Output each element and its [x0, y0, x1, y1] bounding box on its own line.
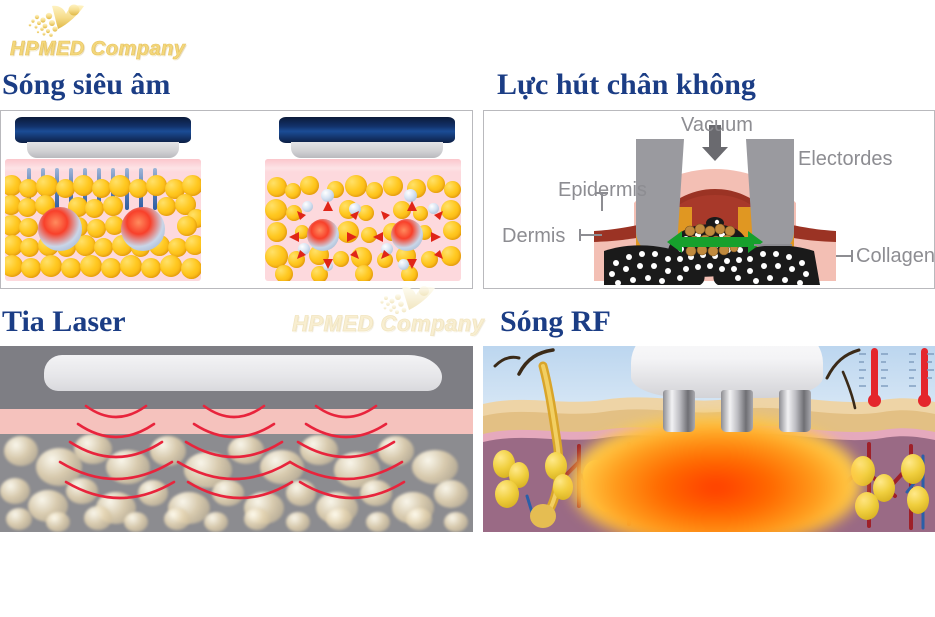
figure-rf-heating — [483, 346, 935, 532]
ultrasound-probe-base — [27, 142, 179, 158]
hpmed-watermark-text: HPMED Company — [292, 311, 484, 337]
laser-wave-arcs — [0, 346, 473, 532]
rf-electrode — [779, 390, 811, 432]
cavitation-bubble — [121, 207, 165, 251]
cavitation-bubble — [38, 207, 82, 251]
hpmed-wordmark: HPMED Company — [10, 38, 185, 61]
ultrasound-stage-before — [5, 115, 201, 285]
section-title-rf: Sóng RF — [500, 305, 611, 339]
ultrasound-probe-base — [291, 142, 443, 158]
rf-electrode — [663, 390, 695, 432]
ultrasound-probe-head — [15, 117, 191, 143]
label-collagen: Collagen — [856, 245, 935, 268]
hpmed-watermark: HPMED Company — [290, 285, 520, 341]
label-dermis: Dermis — [502, 225, 565, 248]
figure-vacuum-electrodes: Vacuum Electordes Epidermis Dermis Colla… — [483, 110, 935, 289]
tissue-block-before — [5, 159, 201, 281]
figure-ultrasound-cavitation — [0, 110, 473, 289]
ultrasound-probe-head — [279, 117, 455, 143]
label-epidermis: Epidermis — [558, 179, 647, 202]
label-vacuum: Vacuum — [681, 114, 753, 137]
hpmed-logo: HPMED Company — [8, 2, 178, 64]
section-title-ultrasound: Sóng siêu âm — [2, 68, 170, 102]
label-electrodes: Electordes — [798, 148, 893, 171]
hpmed-starburst-figure-logo — [8, 2, 178, 42]
rf-electrode — [721, 390, 753, 432]
hpmed-starburst-figure-watermark-icon — [290, 285, 520, 317]
section-title-vacuum: Lực hút chân không — [497, 68, 756, 102]
thermometer-scale-ticks — [859, 346, 935, 406]
section-title-laser: Tia Laser — [2, 305, 126, 339]
cavitation-burst-arrows — [265, 159, 461, 281]
ultrasound-stage-after — [263, 115, 463, 285]
figure-laser-penetration — [0, 346, 473, 532]
tissue-block-after — [265, 159, 461, 281]
